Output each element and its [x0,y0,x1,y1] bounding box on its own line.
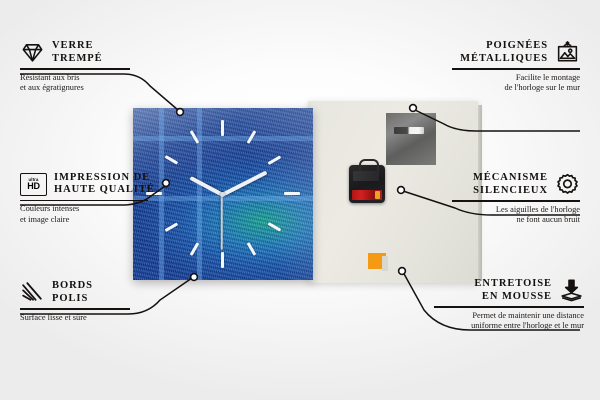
mechanism-loop [359,159,379,171]
callout-verre-trempe[interactable]: VERRE TREMPÉ Résistant aux bris et aux é… [20,40,170,93]
callout-impression-hd[interactable]: ultra HD IMPRESSION DE HAUTE QUALITÉ Cou… [20,172,180,225]
hanger-slot [394,127,424,134]
callout-subtitle-line2: et image claire [20,215,180,225]
callout-poignees-metalliques[interactable]: POIGNÉES MÉTALLIQUES Facilite le montage… [420,40,580,93]
callout-rule [20,200,148,202]
callout-title-line2: MÉTALLIQUES [460,53,548,65]
callout-rule [434,306,584,308]
ultra-hd-icon: ultra HD [20,173,47,196]
callout-title-line2: HAUTE QUALITÉ [54,184,155,196]
hanging-frame-icon [555,40,580,65]
callout-subtitle-line1: Les aiguilles de l'horloge [420,205,580,215]
diamond-icon [20,40,45,65]
callout-title-line2: EN MOUSSE [474,291,552,303]
mechanism-shadow [353,171,379,181]
callout-title-line1: POIGNÉES [460,40,548,52]
arrow-down-stack-icon [559,278,584,303]
second-hand [221,195,223,250]
callout-title-line1: ENTRETOISE [474,278,552,290]
foam-spacer [368,253,386,269]
callout-subtitle-line1: Résistant aux bris [20,73,170,83]
pattern-bar-v2 [197,108,202,280]
callout-subtitle-line1: Surface lisse et sûre [20,313,170,323]
callout-subtitle-line2: uniforme entre l'horloge et le mur [406,321,584,331]
callout-title-line2: POLIS [52,293,93,305]
metal-hanger [386,113,436,165]
ultra-hd-icon-bottom: HD [27,182,40,191]
polished-edge-icon [20,280,45,305]
callout-title-line1: VERRE [52,40,103,52]
callout-title-line1: BORDS [52,280,93,292]
callout-title-line2: SILENCIEUX [473,185,548,197]
callout-subtitle-line2: de l'horloge sur le mur [420,83,580,93]
hour-marker-3 [284,192,300,195]
clock-mechanism [349,165,385,203]
callout-title-line2: TREMPÉ [52,53,103,65]
clock-hub [220,192,225,197]
callout-subtitle-line1: Permet de maintenir une distance [406,311,584,321]
infographic-stage: VERRE TREMPÉ Résistant aux bris et aux é… [0,0,600,400]
callout-rule [20,68,130,70]
callout-rule [452,68,580,70]
callout-mecanisme-silencieux[interactable]: MÉCANISME SILENCIEUX Les aiguilles de l'… [420,172,580,225]
callout-bords-polis[interactable]: BORDS POLIS Surface lisse et sûre [20,280,170,323]
battery [352,190,382,200]
pattern-bar-h1 [133,136,313,141]
callout-rule [452,200,580,202]
callout-subtitle-line2: et aux égratignures [20,83,170,93]
callout-subtitle-line1: Facilite le montage [420,73,580,83]
callout-title-line1: MÉCANISME [473,172,548,184]
callout-subtitle-line2: ne font aucun bruit [420,215,580,225]
callout-subtitle-line1: Couleurs intenses [20,204,180,214]
hour-marker-6 [221,252,224,268]
hour-marker-12 [221,120,224,136]
callout-entretoise-mousse[interactable]: ENTRETOISE EN MOUSSE Permet de maintenir… [406,278,584,331]
gear-icon [555,172,580,197]
callout-rule [20,308,130,310]
callout-title-line1: IMPRESSION DE [54,172,155,184]
